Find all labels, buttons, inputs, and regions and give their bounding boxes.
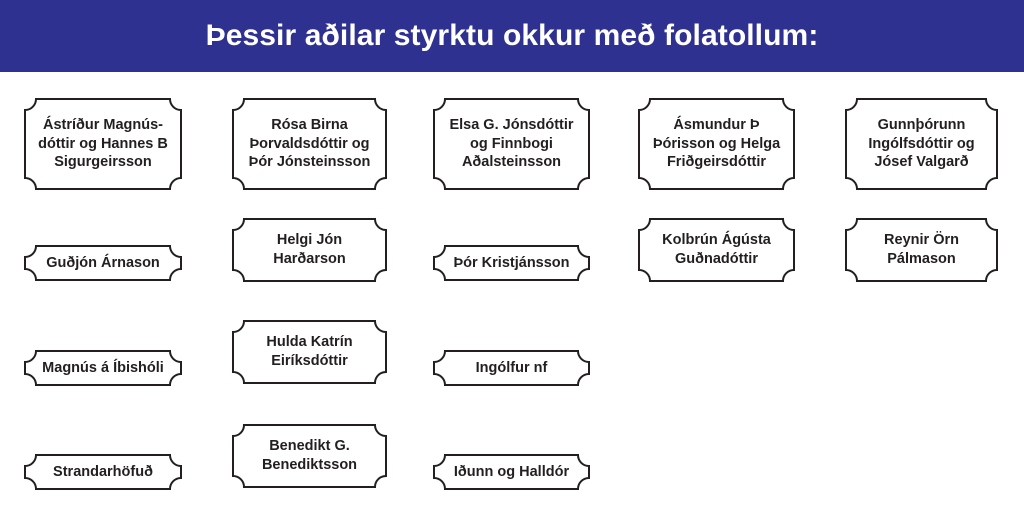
sponsor-plaque: Ásmundur Þ Þórisson og Helga Friðgeirsdó… bbox=[638, 98, 795, 190]
sponsor-name: Ingólfur nf bbox=[433, 350, 590, 386]
sponsor-name: Ástríður Magnús- dóttir og Hannes B Sigu… bbox=[24, 98, 182, 190]
sponsor-name: Iðunn og Halldór bbox=[433, 454, 590, 490]
sponsor-plaque: Elsa G. Jónsdóttir og Finnbogi Aðalstein… bbox=[433, 98, 590, 190]
sponsor-name: Helgi Jón Harðarson bbox=[232, 218, 387, 282]
sponsor-plaque: Helgi Jón Harðarson bbox=[232, 218, 387, 282]
sponsor-name: Strandarhöfuð bbox=[24, 454, 182, 490]
sponsor-plaque: Reynir Örn Pálmason bbox=[845, 218, 998, 282]
sponsor-name: Elsa G. Jónsdóttir og Finnbogi Aðalstein… bbox=[433, 98, 590, 190]
sponsor-plaque: Magnús á Íbishóli bbox=[24, 350, 182, 386]
sponsor-plaque: Kolbrún Ágústa Guðnadóttir bbox=[638, 218, 795, 282]
sponsor-plaque: Ingólfur nf bbox=[433, 350, 590, 386]
sponsor-plaque: Ástríður Magnús- dóttir og Hannes B Sigu… bbox=[24, 98, 182, 190]
sponsor-plaque: Guðjón Árnason bbox=[24, 245, 182, 281]
sponsor-name: Hulda Katrín Eiríksdóttir bbox=[232, 320, 387, 384]
sponsor-plaque: Strandarhöfuð bbox=[24, 454, 182, 490]
sponsor-name: Kolbrún Ágústa Guðnadóttir bbox=[638, 218, 795, 282]
sponsor-name: Rósa Birna Þorvaldsdóttir og Þór Jónstei… bbox=[232, 98, 387, 190]
sponsor-name: Ásmundur Þ Þórisson og Helga Friðgeirsdó… bbox=[638, 98, 795, 190]
header-banner: Þessir aðilar styrktu okkur með folatoll… bbox=[0, 0, 1024, 72]
sponsor-plaque: Gunnþórunn Ingólfsdóttir og Jósef Valgar… bbox=[845, 98, 998, 190]
sponsor-plaque: Þór Kristjánsson bbox=[433, 245, 590, 281]
sponsor-plaque: Hulda Katrín Eiríksdóttir bbox=[232, 320, 387, 384]
sponsor-name: Benedikt G. Benediktsson bbox=[232, 424, 387, 488]
sponsor-name: Gunnþórunn Ingólfsdóttir og Jósef Valgar… bbox=[845, 98, 998, 190]
sponsor-plaque: Iðunn og Halldór bbox=[433, 454, 590, 490]
sponsor-plaque-grid: Ástríður Magnús- dóttir og Hannes B Sigu… bbox=[0, 72, 1024, 512]
sponsor-name: Guðjón Árnason bbox=[24, 245, 182, 281]
sponsor-plaque: Rósa Birna Þorvaldsdóttir og Þór Jónstei… bbox=[232, 98, 387, 190]
sponsor-name: Magnús á Íbishóli bbox=[24, 350, 182, 386]
page-title: Þessir aðilar styrktu okkur með folatoll… bbox=[206, 21, 819, 51]
sponsor-name: Reynir Örn Pálmason bbox=[845, 218, 998, 282]
sponsor-plaque: Benedikt G. Benediktsson bbox=[232, 424, 387, 488]
sponsor-name: Þór Kristjánsson bbox=[433, 245, 590, 281]
